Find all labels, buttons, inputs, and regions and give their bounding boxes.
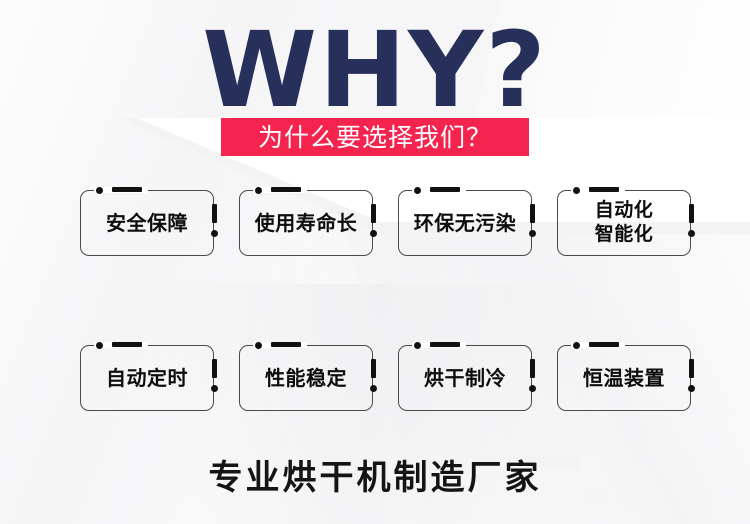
card-label-line: 安全保障 [106,212,188,234]
card-label-line: 恒温装置 [583,367,665,389]
feature-card-使用寿命长[interactable]: 使用寿命长 [239,190,373,256]
card-label: 使用寿命长 [239,190,373,256]
card-label: 安全保障 [80,190,214,256]
card-label-line: 智能化 [595,223,654,247]
card-label: 恒温装置 [557,345,691,411]
subtitle-banner: 为什么要选择我们？ [221,118,529,156]
feature-card-烘干制冷[interactable]: 烘干制冷 [398,345,532,411]
card-label: 性能稳定 [239,345,373,411]
footer-tagline: 专业烘干机制造厂家 [0,450,750,499]
card-label: 环保无污染 [398,190,532,256]
feature-card-恒温装置[interactable]: 恒温装置 [557,345,691,411]
card-label-line: 环保无污染 [414,212,517,234]
subtitle-banner-text: 为什么要选择我们？ [258,125,492,150]
feature-card-自动定时[interactable]: 自动定时 [80,345,214,411]
feature-card-安全保障[interactable]: 安全保障 [80,190,214,256]
card-label-line: 烘干制冷 [424,367,506,389]
card-label-line: 性能稳定 [265,367,347,389]
card-label-line: 使用寿命长 [255,212,358,234]
feature-card-环保无污染[interactable]: 环保无污染 [398,190,532,256]
feature-card-性能稳定[interactable]: 性能稳定 [239,345,373,411]
card-label: 烘干制冷 [398,345,532,411]
feature-card-自动化智能化[interactable]: 自动化 智能化 [557,190,691,256]
headline-why: WHY? [0,18,750,122]
promo-banner-page: WHY? 为什么要选择我们？ 安全保障 使用寿命长 [0,0,750,524]
card-label-line: 自动化 [595,199,654,223]
card-label: 自动化 智能化 [557,190,691,256]
card-label-line: 自动定时 [106,367,188,389]
card-label: 自动定时 [80,345,214,411]
